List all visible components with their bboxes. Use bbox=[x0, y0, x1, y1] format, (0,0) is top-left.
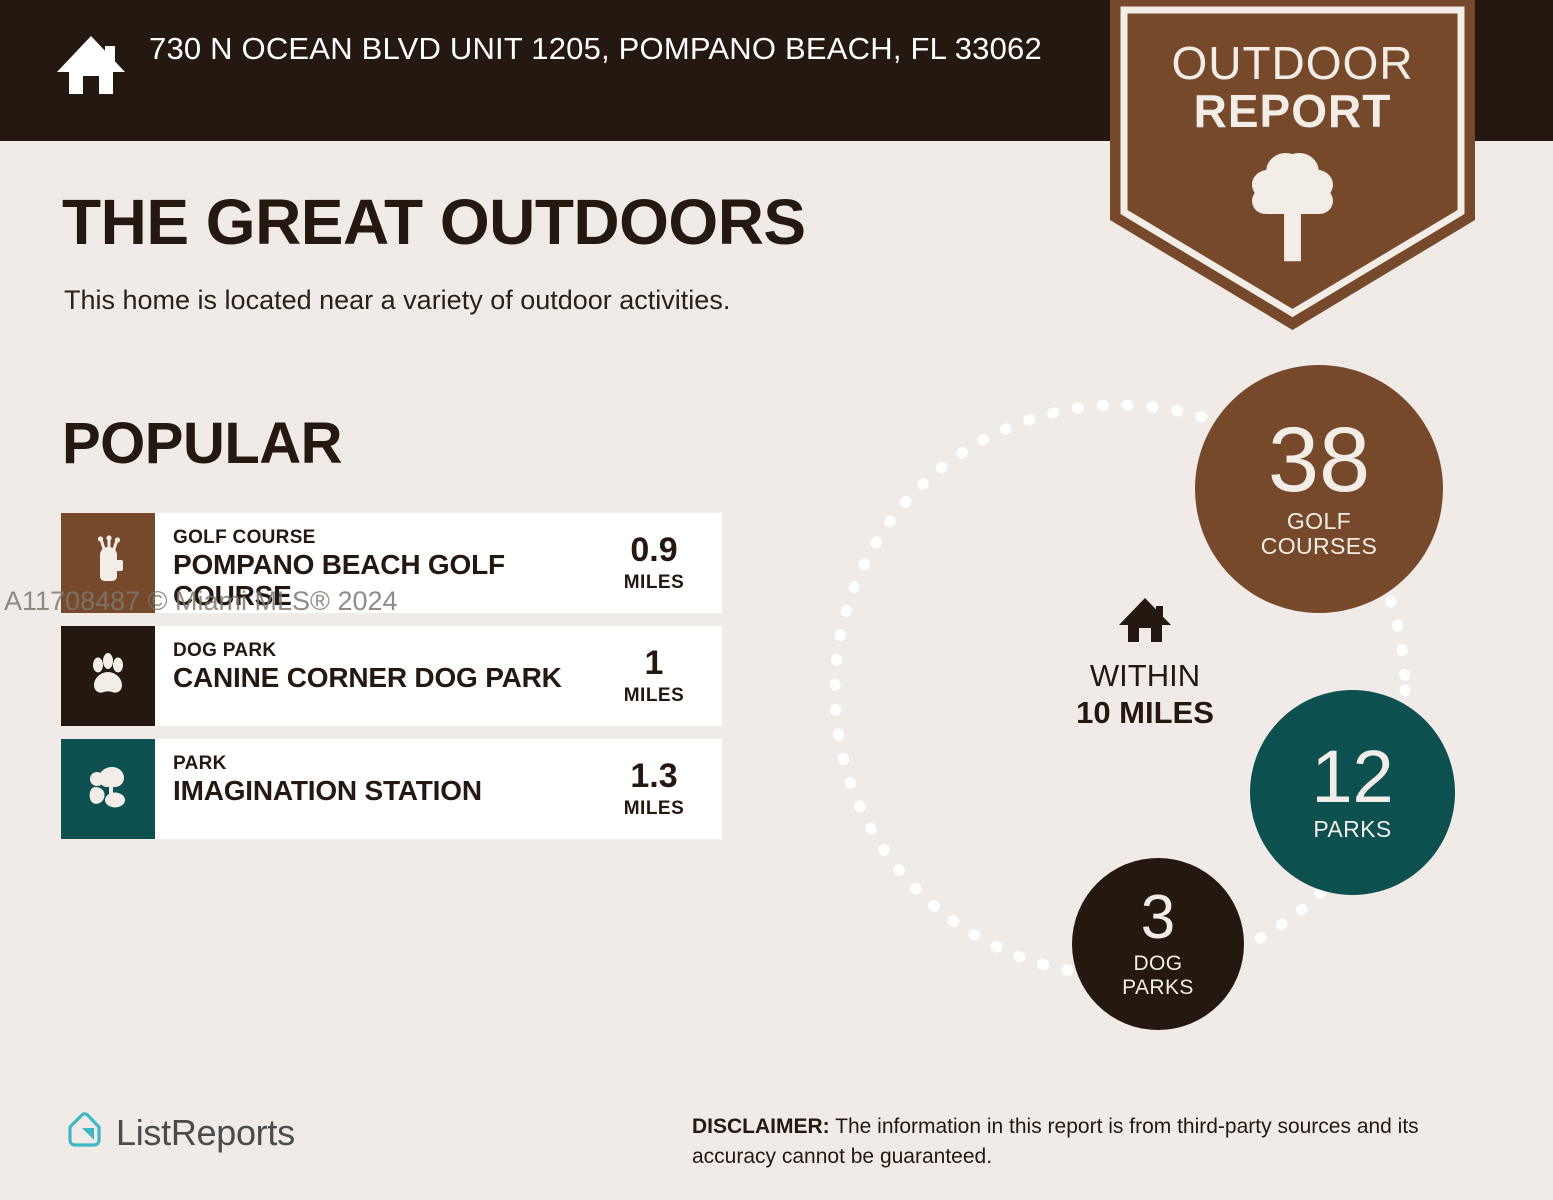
poi-category: DOG PARK bbox=[173, 640, 598, 662]
listreports-logo[interactable]: ListReports bbox=[62, 1108, 295, 1157]
stat-label: DOG PARKS bbox=[1122, 952, 1194, 999]
poi-text: DOG PARK CANINE CORNER DOG PARK bbox=[155, 626, 598, 726]
list-item[interactable]: DOG PARK CANINE CORNER DOG PARK 1 MILES bbox=[61, 626, 722, 726]
poi-distance: 0.9 MILES bbox=[598, 513, 722, 613]
stat-circle-parks: 12 PARKS bbox=[1250, 690, 1455, 895]
poi-category: GOLF COURSE bbox=[173, 527, 598, 549]
stat-label-line-1: DOG bbox=[1122, 952, 1194, 976]
stat-value: 12 bbox=[1311, 743, 1393, 811]
poi-distance: 1.3 MILES bbox=[598, 739, 722, 839]
popular-poi-list: GOLF COURSE POMPANO BEACH GOLF COURSE 0.… bbox=[61, 513, 722, 852]
diagram-center-label: WITHIN 10 MILES bbox=[1035, 595, 1255, 731]
poi-distance-value: 1 bbox=[598, 646, 710, 680]
paw-icon bbox=[82, 648, 134, 705]
poi-distance: 1 MILES bbox=[598, 626, 722, 726]
outdoor-report-page: 730 N OCEAN BLVD UNIT 1205, POMPANO BEAC… bbox=[0, 0, 1553, 1200]
poi-name: IMAGINATION STATION bbox=[173, 775, 598, 806]
poi-distance-unit: MILES bbox=[598, 685, 710, 707]
stat-label-line-2: COURSES bbox=[1261, 534, 1378, 560]
poi-distance-value: 1.3 bbox=[598, 759, 710, 793]
listreports-house-icon bbox=[62, 1108, 106, 1157]
page-subtitle: This home is located near a variety of o… bbox=[64, 285, 730, 316]
within-10-miles-diagram: WITHIN 10 MILES 38 GOLF COURSES 12 PARKS… bbox=[800, 340, 1500, 1060]
page-title: THE GREAT OUTDOORS bbox=[62, 190, 806, 254]
park-trees-icon bbox=[82, 761, 134, 818]
golf-bag-icon bbox=[82, 535, 134, 592]
disclaimer: DISCLAIMER: The information in this repo… bbox=[692, 1112, 1492, 1172]
stat-label-line-2: PARKS bbox=[1122, 976, 1194, 1000]
outdoor-report-badge: OUTDOOR REPORT bbox=[1110, 0, 1475, 330]
stat-value: 3 bbox=[1141, 889, 1175, 946]
disclaimer-label: DISCLAIMER: bbox=[692, 1115, 830, 1138]
stat-value: 38 bbox=[1268, 418, 1370, 503]
poi-distance-unit: MILES bbox=[598, 798, 710, 820]
home-icon bbox=[1117, 595, 1173, 645]
list-item[interactable]: PARK IMAGINATION STATION 1.3 MILES bbox=[61, 739, 722, 839]
home-icon bbox=[55, 32, 127, 98]
stat-label: PARKS bbox=[1313, 817, 1391, 843]
poi-distance-unit: MILES bbox=[598, 572, 710, 594]
listreports-logo-text: ListReports bbox=[116, 1112, 295, 1154]
stat-circle-dog-parks: 3 DOG PARKS bbox=[1072, 858, 1244, 1030]
mls-watermark: A11708487 © Miami MLS® 2024 bbox=[4, 586, 398, 617]
diagram-center-line-2: 10 MILES bbox=[1035, 695, 1255, 732]
poi-icon-tile bbox=[61, 739, 155, 839]
poi-text: PARK IMAGINATION STATION bbox=[155, 739, 598, 839]
property-address: 730 N OCEAN BLVD UNIT 1205, POMPANO BEAC… bbox=[149, 28, 1042, 70]
header-content: 730 N OCEAN BLVD UNIT 1205, POMPANO BEAC… bbox=[55, 28, 1065, 98]
stat-label-line-1: PARKS bbox=[1313, 817, 1391, 843]
poi-distance-value: 0.9 bbox=[598, 533, 710, 567]
poi-icon-tile bbox=[61, 626, 155, 726]
poi-name: CANINE CORNER DOG PARK bbox=[173, 662, 593, 693]
stat-circle-golf-courses: 38 GOLF COURSES bbox=[1195, 365, 1443, 613]
poi-category: PARK bbox=[173, 753, 598, 775]
stat-label-line-1: GOLF bbox=[1261, 509, 1378, 535]
diagram-center-line-1: WITHIN bbox=[1035, 658, 1255, 695]
stat-label: GOLF COURSES bbox=[1261, 509, 1378, 561]
section-title-popular: POPULAR bbox=[62, 415, 342, 473]
